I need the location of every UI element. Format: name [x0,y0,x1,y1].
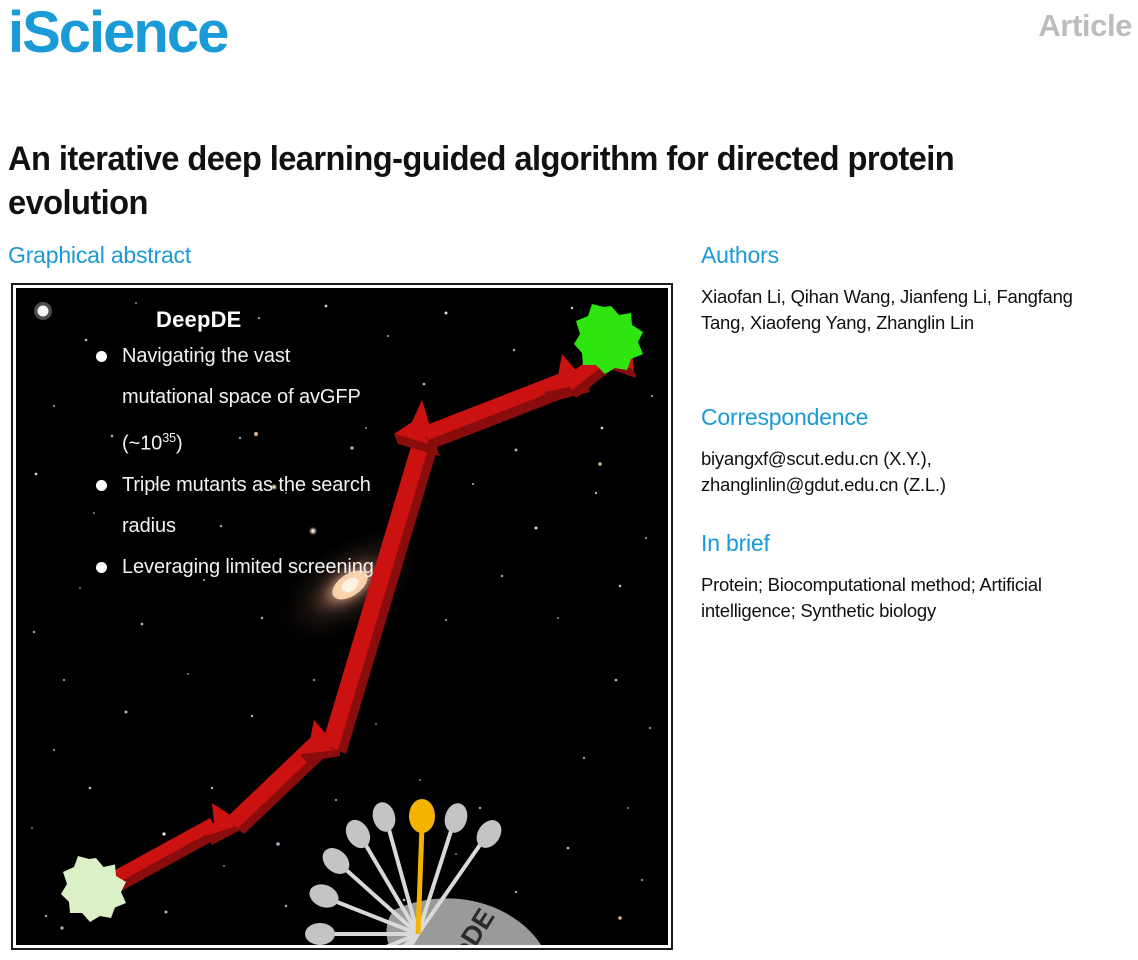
authors-list: Xiaofan Li, Qihan Wang, Jianfeng Li, Fan… [701,284,1101,337]
graphical-abstract-heading: Graphical abstract [8,243,191,268]
page-root: iScience Article An iterative deep learn… [0,0,1138,960]
bullet-text-1: Navigating the vast mutational space of … [122,345,360,455]
bullet-dot [96,562,107,573]
bullet-exponent: 35 [162,431,176,445]
figure-bullet-list: Navigating the vast mutational space of … [90,336,380,588]
bullet-suffix: ) [176,433,183,455]
list-item: Leveraging limited screening [90,547,380,588]
journal-logo: iScience [8,4,227,62]
in-brief-text: Protein; Biocomputational method; Artifi… [701,572,1126,625]
figure-overlay-title: DeepDE [156,307,242,333]
graphical-abstract-canvas: DeepDE DeepDE Navigating the vast mutati… [16,288,668,945]
article-type-label: Article [1038,10,1132,41]
bullet-text-2: Triple mutants as the search radius [122,474,371,537]
graphical-abstract-figure: DeepDE DeepDE Navigating the vast mutati… [11,283,673,950]
authors-heading: Authors [701,243,779,268]
list-item: Triple mutants as the search radius [90,465,380,547]
correspondence-emails[interactable]: biyangxf@scut.edu.cn (X.Y.), zhanglinlin… [701,446,1121,499]
bullet-dot [96,480,107,491]
in-brief-heading: In brief [701,531,770,556]
bullet-dot [96,351,107,362]
correspondence-heading: Correspondence [701,405,868,430]
page-title: An iterative deep learning-guided algori… [8,137,1006,225]
list-item: Navigating the vast mutational space of … [90,336,380,465]
bullet-text-3: Leveraging limited screening [122,556,374,578]
